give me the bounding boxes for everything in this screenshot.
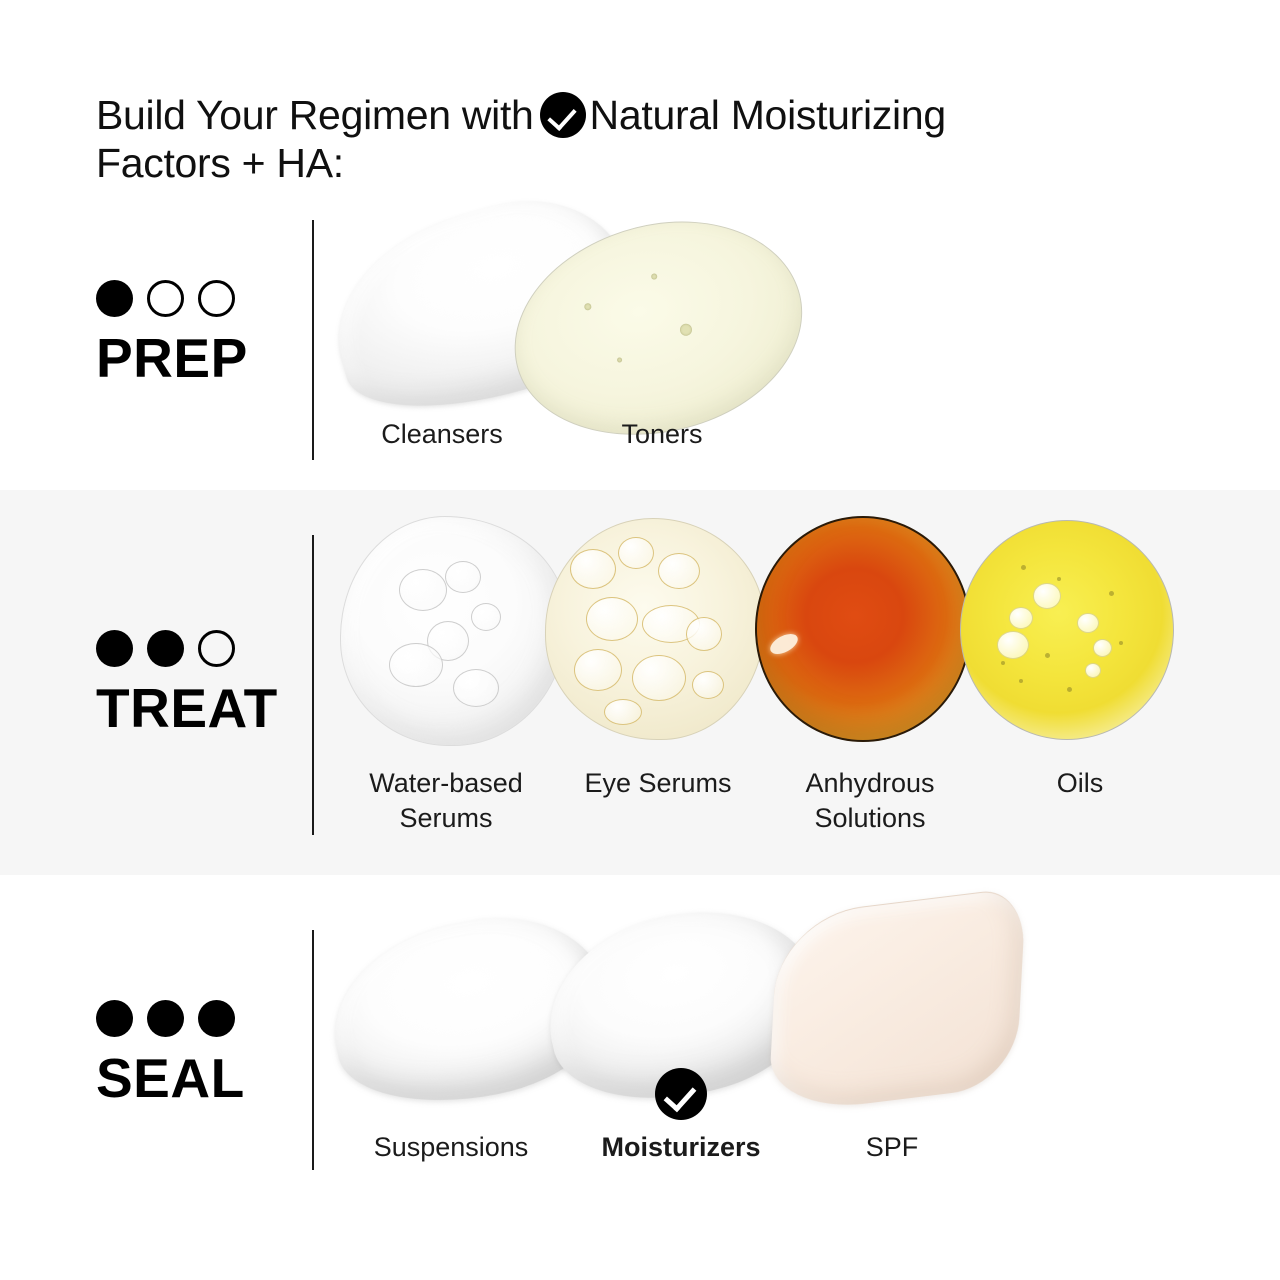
bubble-icon [1019,679,1023,683]
step-dot-filled [147,1000,184,1037]
bubble-icon [618,537,654,569]
check-circle-icon [540,92,586,138]
step-dots-treat [96,630,296,667]
headline-part-2: Natural Moisturizing [590,92,946,138]
label-row-treat: Water-based Serums Eye Serums Anhydrous … [340,766,1185,835]
row-divider-treat [312,535,314,835]
swatch-spf [768,886,1027,1115]
bubble-icon [686,617,722,651]
product-label-anhydrous-solutions: Anhydrous Solutions [764,766,976,835]
bubble-icon [570,549,616,589]
swatch-eye-serums [545,518,765,740]
bubble-icon [1057,577,1061,581]
bubble-icon [632,655,686,701]
bubble-icon [1077,613,1099,633]
step-label-prep: PREP [96,331,296,386]
step-dots-seal [96,1000,296,1037]
bubble-icon [604,699,642,725]
swatch-group-treat [340,508,1185,748]
headline-part-3: Factors + HA: [96,140,1086,188]
bubble-icon [471,603,501,631]
product-label-spf: SPF [792,1130,992,1165]
bubble-icon [1021,565,1026,570]
label-row-seal: Suspensions Moisturizers SPF [332,1130,1032,1165]
step-dot-filled [96,280,133,317]
highlight-icon [767,630,801,658]
product-label-oils: Oils [976,766,1184,835]
swatch-anhydrous-solutions [755,516,971,742]
bubble-icon [399,569,447,611]
step-dot-filled [96,1000,133,1037]
product-label-moisturizers: Moisturizers [570,1130,792,1165]
row-divider-prep [312,220,314,460]
bubble-icon [1085,663,1101,678]
check-circle-icon [655,1068,707,1120]
step-dot-filled [147,630,184,667]
bubble-icon [997,631,1029,659]
step-label-seal: SEAL [96,1051,296,1106]
bubble-icon [1045,653,1050,658]
regimen-row-prep: PREP Cleansers Toners [0,195,1280,490]
product-label-suspensions: Suspensions [332,1130,570,1165]
regimen-row-treat: TREAT [0,490,1280,875]
bubble-icon [574,649,622,691]
step-dot-empty [198,630,235,667]
bubble-icon [445,561,481,593]
step-label-treat: TREAT [96,681,296,736]
product-label-moisturizers-text: Moisturizers [601,1132,760,1162]
bubble-icon [651,273,658,280]
headline-part-1: Build Your Regimen with [96,92,534,138]
step-dot-empty [147,280,184,317]
bubble-icon [1109,591,1114,596]
swatch-oils [960,520,1174,740]
step-dot-empty [198,280,235,317]
label-row-prep: Cleansers Toners [332,417,852,452]
product-label-cleansers: Cleansers [332,417,552,452]
bubble-icon [679,323,693,337]
bubble-icon [1009,607,1033,629]
bubble-icon [586,597,638,641]
step-indicator-seal: SEAL [96,1000,296,1106]
bubble-icon [1093,639,1112,657]
regimen-row-seal: SEAL Suspensions Moisturizers SPF [0,875,1280,1205]
bubble-icon [453,669,499,707]
product-label-eye-serums: Eye Serums [552,766,764,835]
bubble-icon [1033,583,1061,609]
swatch-water-based-serums [340,516,567,746]
bubble-icon [617,357,623,363]
row-divider-seal [312,930,314,1170]
step-dot-filled [96,630,133,667]
step-indicator-treat: TREAT [96,630,296,736]
step-dot-filled [198,1000,235,1037]
bubble-icon [584,303,592,311]
bubble-icon [1001,661,1005,665]
bubble-icon [658,553,700,589]
page-headline: Build Your Regimen withNatural Moisturiz… [96,92,1086,188]
bubble-icon [1067,687,1072,692]
bubble-icon [692,671,724,699]
product-label-water-based-serums: Water-based Serums [340,766,552,835]
step-dots-prep [96,280,296,317]
swatch-group-prep [332,203,852,433]
product-label-toners: Toners [552,417,772,452]
bubble-icon [389,643,443,687]
step-indicator-prep: PREP [96,280,296,386]
bubble-icon [1119,641,1123,645]
